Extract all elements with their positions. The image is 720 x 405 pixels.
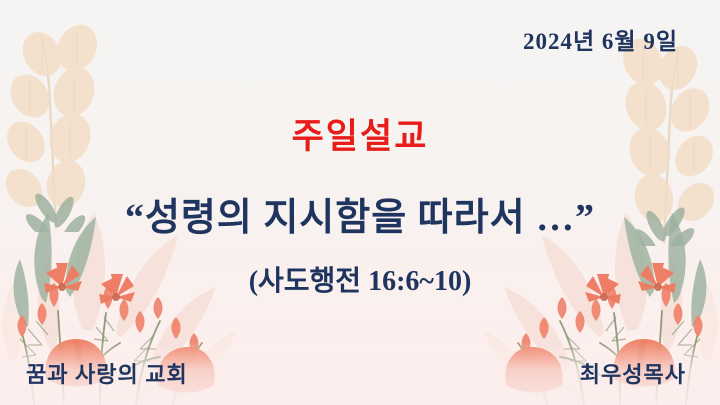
pastor-name: 최우성목사 [580,357,686,389]
text-layer: 2024년 6월 9일 주일설교 “성령의 지시함을 따라서 …” (사도행전 … [0,0,720,405]
service-date: 2024년 6월 9일 [523,22,678,56]
sermon-title: “성령의 지시함을 따라서 …” [0,186,720,241]
scripture-reference: (사도행전 16:6~10) [0,259,720,299]
sermon-title-card: 2024년 6월 9일 주일설교 “성령의 지시함을 따라서 …” (사도행전 … [0,0,720,405]
church-name: 꿈과 사랑의 교회 [26,357,188,389]
sermon-kicker: 주일설교 [0,108,720,159]
